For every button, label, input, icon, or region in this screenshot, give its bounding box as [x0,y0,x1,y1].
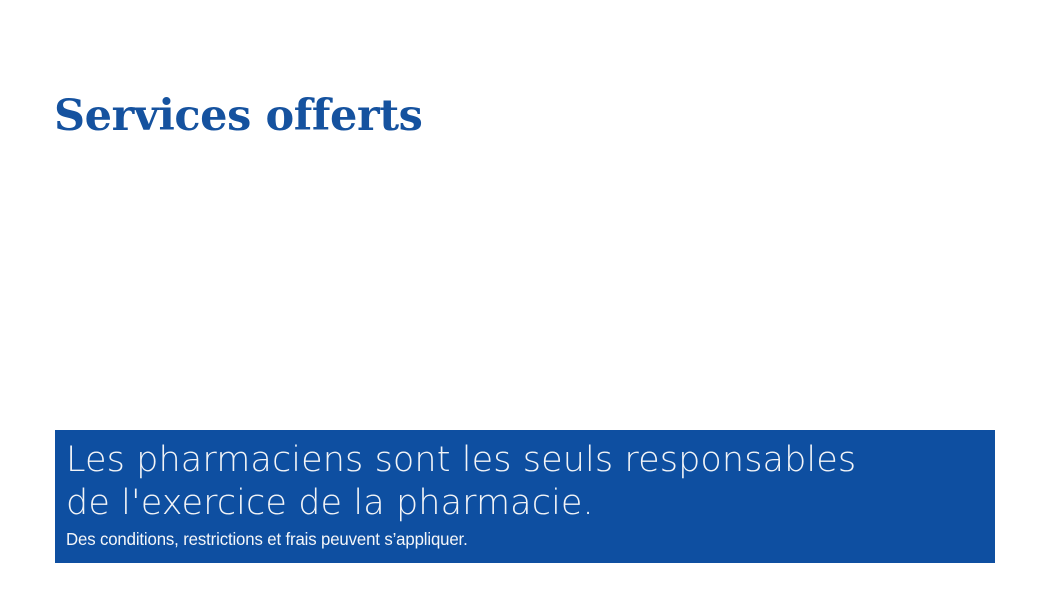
notice-banner: Les pharmaciens sont les seuls responsab… [55,430,995,563]
slide-content-area [54,130,995,426]
notice-headline-line-2: de l'exercice de la pharmacie. [66,482,995,525]
notice-subline: Des conditions, restrictions et frais pe… [66,528,958,551]
slide-canvas: Services offerts Les pharmaciens sont le… [0,0,1050,600]
notice-headline-line-1: Les pharmaciens sont les seuls responsab… [66,439,995,482]
notice-headline: Les pharmaciens sont les seuls responsab… [66,439,995,525]
